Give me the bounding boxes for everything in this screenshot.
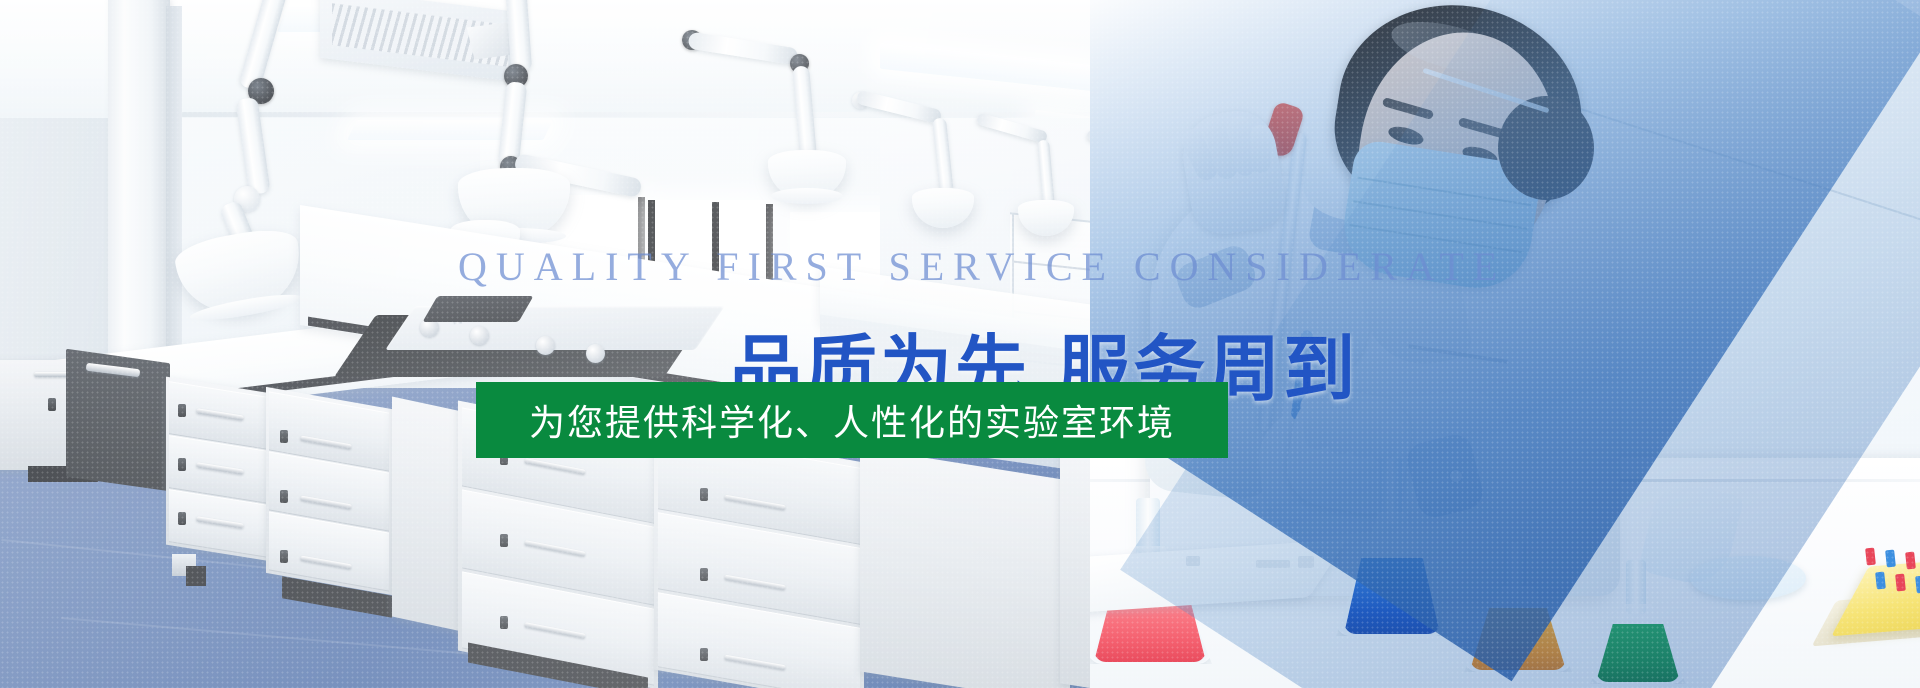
service-knob	[470, 326, 489, 345]
pipette-tip	[1895, 574, 1906, 592]
drawer-lock	[178, 404, 186, 417]
drawer-lock	[500, 534, 508, 547]
drawer-lock	[700, 648, 708, 661]
drawer-lock	[700, 568, 708, 581]
glove-finger	[1250, 125, 1270, 173]
hero-banner: QUALITY FIRST SERVICE CONSIDERATE 品质为先 服…	[0, 0, 1920, 688]
tray-chip	[1186, 556, 1200, 566]
tray-label	[1256, 560, 1290, 568]
drawer-lock	[500, 616, 508, 629]
service-knob	[536, 336, 555, 355]
mask-pleat	[1353, 200, 1527, 230]
support-pillar-side	[166, 6, 182, 374]
drawer-lock	[280, 550, 288, 563]
banner-subtitle-text: 为您提供科学化、人性化的实验室环境	[529, 394, 1175, 446]
drawer-lock	[178, 512, 186, 525]
petri-dish	[1690, 556, 1806, 600]
bench-equipment-box	[422, 296, 533, 322]
cabinet-lock	[48, 398, 56, 411]
cabinet-plinth	[186, 566, 206, 586]
banner-english-tagline: QUALITY FIRST SERVICE CONSIDERATE	[458, 243, 1506, 290]
service-knob	[586, 344, 605, 363]
drawer-lock	[280, 430, 288, 443]
drawer-lock	[700, 488, 708, 501]
cuff-button	[1450, 470, 1462, 482]
pipette-tip	[1885, 550, 1896, 568]
extraction-hood	[768, 150, 846, 200]
cabinet	[860, 447, 1070, 688]
cabinet	[654, 425, 864, 688]
support-pillar	[108, 0, 170, 372]
hood-lip	[771, 188, 843, 204]
mask-pleat	[1357, 177, 1531, 207]
cabinet-side-panel	[392, 397, 462, 632]
banner-subtitle-bar: 为您提供科学化、人性化的实验室环境	[476, 382, 1228, 458]
ceiling	[0, 0, 1250, 118]
pipette-tip	[1915, 576, 1920, 594]
drawer-lock	[280, 490, 288, 503]
pipette-tip	[1865, 548, 1876, 566]
drawer-lock	[178, 458, 186, 471]
tray-chip	[1298, 556, 1314, 568]
pipette-tip	[1905, 552, 1916, 570]
pipette-tip	[1875, 572, 1886, 590]
